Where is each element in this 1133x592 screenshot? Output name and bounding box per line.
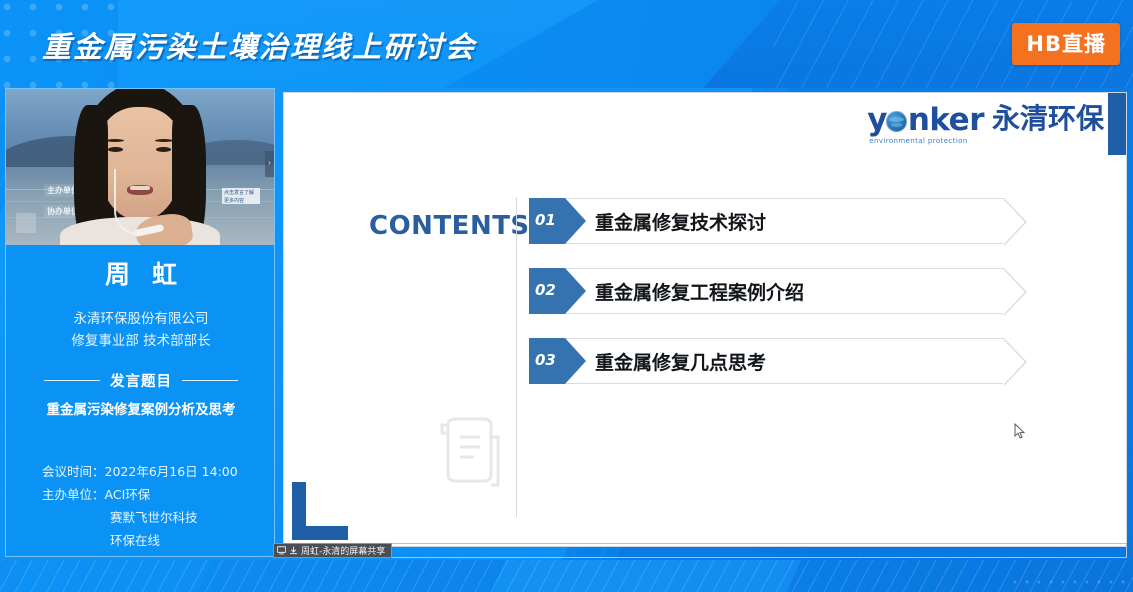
screen-share-label-text: 周虹-永清的屏幕共享 xyxy=(301,544,385,557)
webinar-page: 重金属污染土壤治理线上研讨会 HB直播 重金属 治理 线 2022 主办单位： … xyxy=(0,0,1133,592)
speaker-eyebrow xyxy=(106,139,124,142)
shared-screen-region: yonker environmental protection 永清环保 CON… xyxy=(283,92,1127,560)
bottom-band-stripe-pattern xyxy=(0,560,1133,592)
document-watermark-icon xyxy=(436,411,510,491)
contents-heading: CONTENTS xyxy=(369,211,530,241)
webcam-expand-arrow-icon[interactable]: › xyxy=(265,151,274,177)
screen-share-label: 周虹-永清的屏幕共享 xyxy=(273,543,392,558)
speaker-eyebrow xyxy=(155,139,173,142)
speaker-role: 修复事业部 技术部部长 xyxy=(6,329,275,349)
toc-arrow-icon xyxy=(565,268,586,314)
contents-vertical-divider xyxy=(516,197,517,517)
bottom-band-dot-pattern xyxy=(1009,576,1129,586)
mouse-cursor-icon xyxy=(1014,423,1026,445)
speaker-webcam-video[interactable]: 重金属 治理 线 2022 主办单位： 协办单位： 点击发言了解更多内容 › xyxy=(6,89,274,245)
bottom-decorative-band xyxy=(0,560,1133,592)
toc-marker: 03 xyxy=(529,338,565,384)
meeting-time-label: 会议时间： xyxy=(42,464,105,479)
topic-divider: 发言题目 xyxy=(6,370,275,391)
toc-item-01[interactable]: 01 重金属修复技术探讨 xyxy=(529,198,1004,244)
toc-arrow-icon xyxy=(565,338,586,384)
speaker-eye xyxy=(108,147,123,152)
meeting-organizer-2: 赛默飞世尔科技 xyxy=(42,506,272,529)
page-title: 重金属污染土壤治理线上研讨会 xyxy=(42,24,476,66)
logo-word-text: yonker xyxy=(867,102,984,138)
screen-share-frame xyxy=(273,543,1127,558)
toc-arrow-icon xyxy=(565,198,586,244)
toc-number: 02 xyxy=(535,281,556,299)
meeting-time-value: 2022年6月16日 14:00 xyxy=(105,464,238,479)
divider-dash-right xyxy=(182,380,238,381)
toc-label: 重金属修复工程案例介绍 xyxy=(595,268,804,314)
logo-wordmark: yonker environmental protection xyxy=(867,105,984,136)
toc-marker: 01 xyxy=(529,198,565,244)
toc-number: 03 xyxy=(535,351,556,369)
toc-label: 重金属修复几点思考 xyxy=(595,338,766,384)
divider-dash-left xyxy=(44,380,100,381)
meeting-info: 会议时间：2022年6月16日 14:00 主办单位：ACI环保 赛默飞世尔科技… xyxy=(42,460,272,552)
meeting-organizer-3: 环保在线 xyxy=(42,529,272,552)
slide-corner-top-right xyxy=(1108,93,1126,155)
page-header: 重金属污染土壤治理线上研讨会 HB直播 xyxy=(0,0,1133,88)
yonker-logo: yonker environmental protection 永清环保 xyxy=(867,105,1104,136)
live-badge: HB直播 xyxy=(1012,23,1120,65)
speaker-panel: 重金属 治理 线 2022 主办单位： 协办单位： 点击发言了解更多内容 › xyxy=(5,88,275,557)
meeting-time-row: 会议时间：2022年6月16日 14:00 xyxy=(42,460,272,483)
speaker-topic-title: 重金属污染修复案例分析及思考 xyxy=(6,398,275,418)
logo-tagline: environmental protection xyxy=(869,138,967,145)
toc-label: 重金属修复技术探讨 xyxy=(595,198,766,244)
share-download-icon xyxy=(289,546,298,555)
webcam-background-logo-box xyxy=(16,213,36,233)
topic-divider-label: 发言题目 xyxy=(110,370,172,391)
meeting-organizer-1: ACI环保 xyxy=(105,487,151,502)
speaker-eye xyxy=(156,147,171,152)
toc-item-03[interactable]: 03 重金属修复几点思考 xyxy=(529,338,1004,384)
speaker-company: 永清环保股份有限公司 xyxy=(6,307,275,327)
slide-corner-bottom-left-horizontal xyxy=(292,526,348,540)
toc-marker: 02 xyxy=(529,268,565,314)
logo-chinese-name: 永清环保 xyxy=(992,105,1104,136)
presentation-slide[interactable]: yonker environmental protection 永清环保 CON… xyxy=(283,92,1127,547)
monitor-icon xyxy=(277,546,286,555)
webcam-background-note: 点击发言了解更多内容 xyxy=(222,188,260,204)
toc-item-02[interactable]: 02 重金属修复工程案例介绍 xyxy=(529,268,1004,314)
toc-number: 01 xyxy=(535,211,556,229)
meeting-organizer-label: 主办单位： xyxy=(42,487,105,502)
speaker-name: 周虹 xyxy=(6,255,275,291)
meeting-organizer-row: 主办单位：ACI环保 xyxy=(42,483,272,506)
